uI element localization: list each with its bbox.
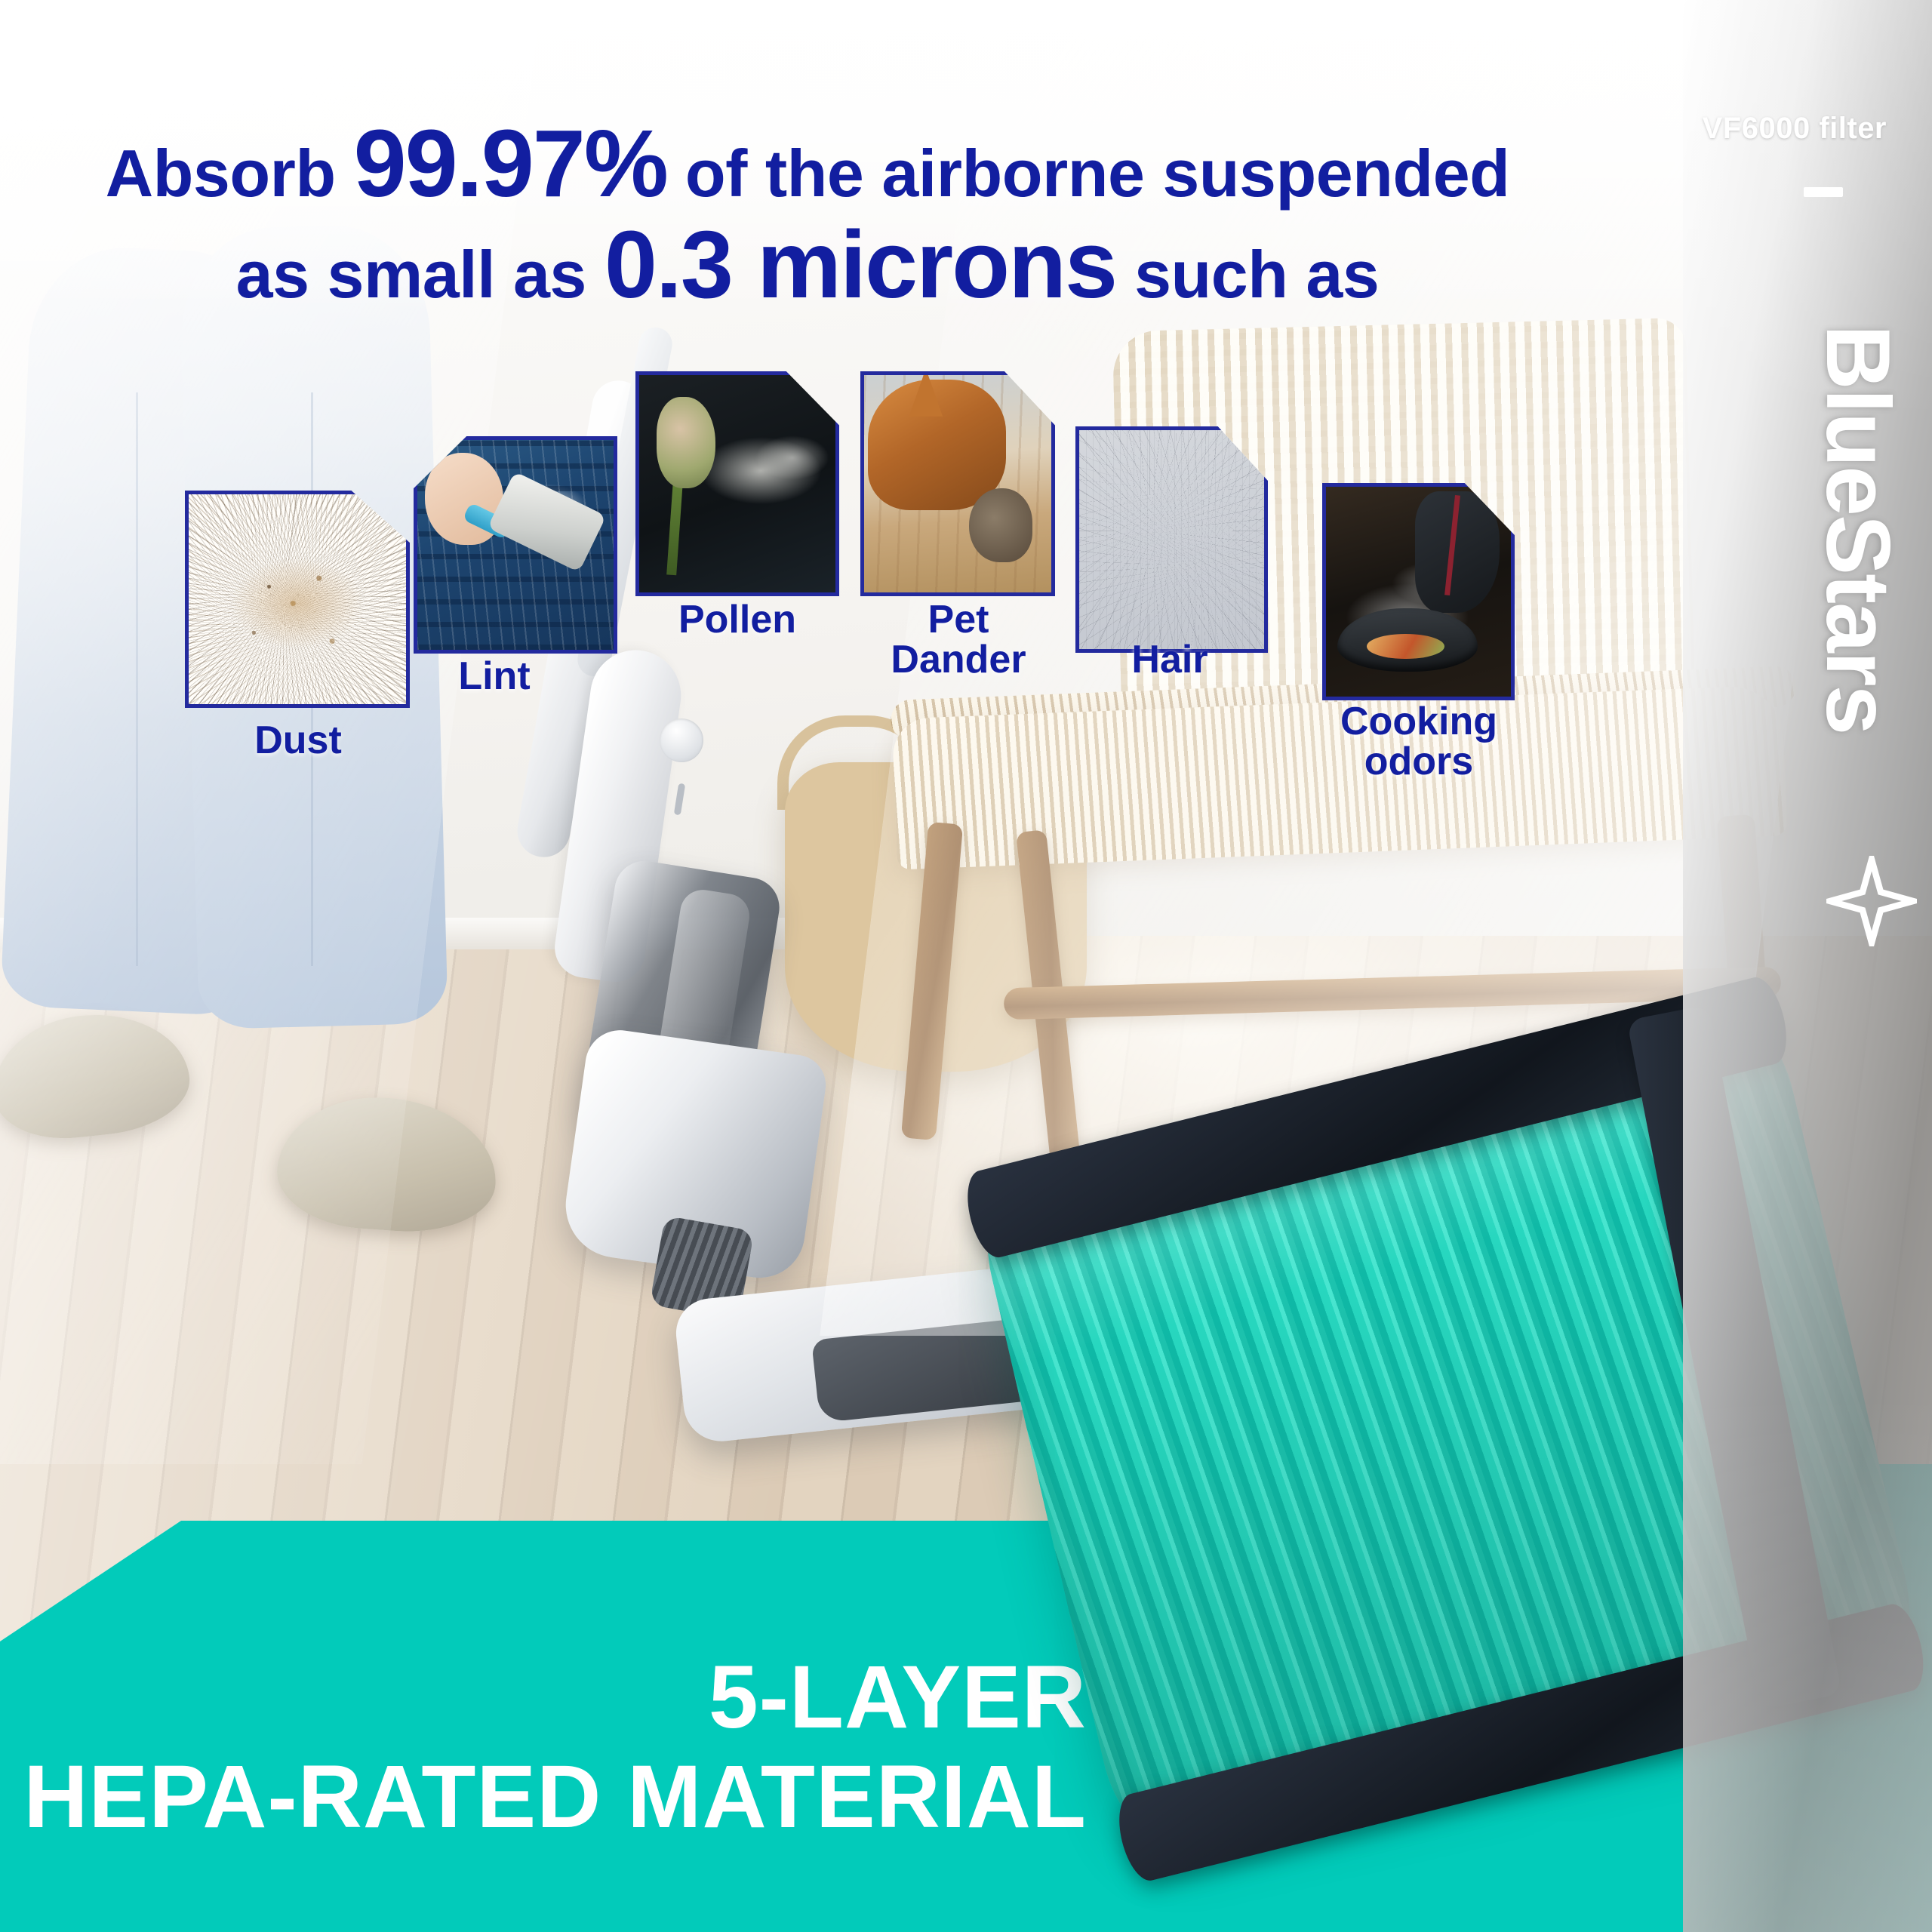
contaminant-thumb-pollen — [635, 371, 839, 596]
brand-name-text: BlueStars — [1805, 325, 1911, 898]
headline-line-1: Absorb 99.97% of the airborne suspended — [0, 113, 1615, 214]
divider-dash — [1804, 187, 1843, 197]
chef-cooking-in-pan-photo — [1326, 487, 1511, 697]
banner-line-2: HEPA-RATED MATERIAL — [0, 1752, 1087, 1841]
headline-line-1-suffix: of the airborne suspended — [667, 136, 1509, 211]
loose-hair-strands-photo — [1079, 430, 1264, 649]
headline-line-2-suffix: such as — [1116, 237, 1379, 312]
contaminant-label-dust: Dust — [147, 721, 449, 761]
product-marketing-graphic: Absorb 99.97% of the airborne suspended … — [0, 0, 1932, 1932]
contaminant-label-hair: Hair — [1045, 640, 1294, 680]
lint-roller-shape — [488, 471, 607, 572]
headline-particle-size-value: 0.3 microns — [605, 211, 1116, 318]
jeans-seam-left — [136, 392, 138, 966]
contaminant-thumb-pet-dander — [860, 371, 1055, 596]
grass-seed-head-shape — [657, 397, 715, 488]
brand-logo: BlueStars — [1805, 325, 1911, 898]
headline: Absorb 99.97% of the airborne suspended … — [0, 113, 1615, 315]
banner-line-1: 5-LAYER — [0, 1653, 1087, 1742]
contaminant-thumb-cooking-odors — [1322, 483, 1515, 700]
hepa-banner-text: 5-LAYER HEPA-RATED MATERIAL — [0, 1653, 1132, 1841]
contaminant-thumb-hair — [1075, 426, 1268, 653]
headline-absorb-text: Absorb — [106, 136, 354, 211]
contaminant-label-lint: Lint — [366, 657, 623, 697]
brushed-fur-clump-shape — [969, 488, 1032, 562]
cat-being-brushed-photo — [864, 375, 1051, 592]
contaminant-label-cooking-odors: Cooking odors — [1291, 702, 1547, 782]
contaminant-thumb-lint — [414, 436, 617, 654]
food-in-pan-shape — [1367, 634, 1444, 659]
headline-line-2: as small as 0.3 microns such as — [0, 214, 1615, 315]
sparkle-star-icon — [1826, 856, 1917, 946]
headline-line-2-prefix: as small as — [236, 237, 605, 312]
lint-roller-on-sweater-photo — [417, 440, 614, 650]
pollen-bursting-from-grass-photo — [639, 375, 835, 592]
headline-efficiency-value: 99.97% — [354, 110, 667, 217]
model-label: VF6000 filter — [1703, 112, 1887, 146]
cat-shape — [868, 380, 1007, 510]
brand-sidebar: VF6000 filter BlueStars — [1683, 0, 1932, 1932]
